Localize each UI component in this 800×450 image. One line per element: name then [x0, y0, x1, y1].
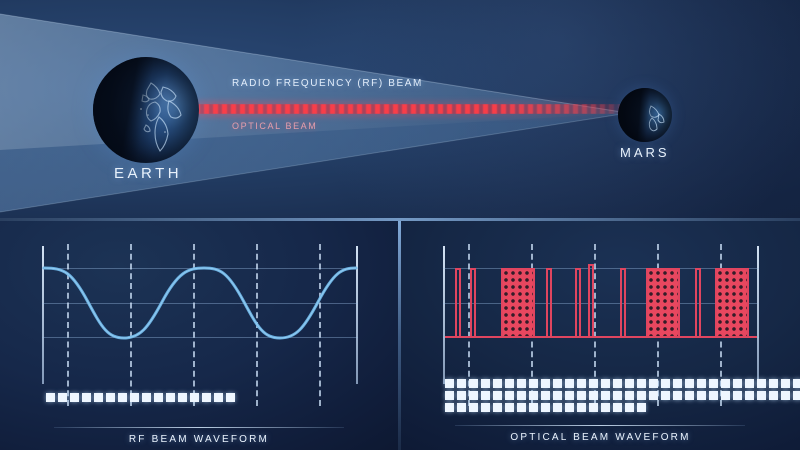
bit-block	[649, 391, 658, 400]
bit-block	[553, 403, 562, 412]
bit-block	[625, 391, 634, 400]
bit-block	[505, 403, 514, 412]
bit-block	[190, 393, 199, 402]
optical-y-axis-right	[757, 246, 759, 384]
optical-plot-area	[443, 246, 759, 358]
bit-block	[661, 391, 670, 400]
optical-baseline	[445, 336, 757, 338]
rf-waveform-panel: RF BEAM WAVEFORM	[0, 221, 398, 450]
bit-block	[481, 391, 490, 400]
bit-block	[517, 403, 526, 412]
bit-block	[505, 379, 514, 388]
bit-block	[553, 379, 562, 388]
bit-block	[601, 379, 610, 388]
earth-terminator	[93, 57, 199, 163]
bit-block	[94, 393, 103, 402]
bit-block	[202, 393, 211, 402]
bit-block	[457, 403, 466, 412]
bit-block	[613, 379, 622, 388]
rf-beam-label: RADIO FREQUENCY (RF) BEAM	[232, 78, 423, 89]
bit-block	[493, 391, 502, 400]
optical-waveform-panel: OPTICAL BEAM WAVEFORM	[401, 221, 800, 450]
optical-caption-rule	[455, 425, 745, 426]
bit-block	[58, 393, 67, 402]
bit-block	[529, 379, 538, 388]
bit-block	[481, 379, 490, 388]
bit-block	[757, 391, 766, 400]
bit-block	[661, 379, 670, 388]
bit-block	[481, 403, 490, 412]
bit-block	[721, 391, 730, 400]
bit-block	[82, 393, 91, 402]
bit-block	[613, 391, 622, 400]
bit-block	[226, 393, 235, 402]
bit-block	[154, 393, 163, 402]
bit-block	[781, 391, 790, 400]
bit-block	[577, 391, 586, 400]
bit-block	[673, 379, 682, 388]
bit-block	[745, 379, 754, 388]
bit-block	[769, 379, 778, 388]
mars-terminator	[618, 88, 672, 142]
bit-block	[505, 391, 514, 400]
earth-label: EARTH	[114, 165, 182, 182]
bit-block	[445, 379, 454, 388]
space-scene: EARTH MARS RADIO FREQUENCY (RF) BEAM OPT…	[0, 0, 800, 218]
rf-plot-area	[42, 246, 358, 358]
optical-pulse	[546, 268, 552, 338]
bit-block	[601, 403, 610, 412]
diagram-canvas: EARTH MARS RADIO FREQUENCY (RF) BEAM OPT…	[0, 0, 800, 450]
bit-block	[769, 391, 778, 400]
bit-block	[553, 391, 562, 400]
bit-block	[565, 379, 574, 388]
bit-block	[781, 379, 790, 388]
bit-block	[541, 391, 550, 400]
bit-block	[106, 393, 115, 402]
bit-block	[589, 379, 598, 388]
optical-beam-label: OPTICAL BEAM	[232, 121, 317, 131]
bit-block	[541, 379, 550, 388]
bit-block	[637, 379, 646, 388]
bit-block	[70, 393, 79, 402]
optical-y-axis-left	[443, 246, 445, 384]
bit-block	[625, 379, 634, 388]
optical-pulse-filled	[715, 268, 749, 338]
optical-pulse	[575, 268, 581, 338]
bit-block	[745, 391, 754, 400]
bit-block	[529, 391, 538, 400]
mars-planet	[618, 88, 672, 142]
bit-block	[601, 391, 610, 400]
bit-block	[118, 393, 127, 402]
bit-block	[445, 403, 454, 412]
bit-block	[46, 393, 55, 402]
bit-block	[565, 403, 574, 412]
rf-sine-wave	[42, 246, 358, 366]
optical-bit-row	[445, 379, 800, 388]
bit-block	[214, 393, 223, 402]
optical-gridline-top	[443, 268, 759, 269]
bit-block	[757, 379, 766, 388]
bit-block	[142, 393, 151, 402]
optical-pulse	[620, 268, 626, 338]
bit-block	[517, 379, 526, 388]
bit-block	[541, 403, 550, 412]
optical-pulse	[470, 268, 476, 338]
bit-block	[529, 403, 538, 412]
bit-block	[493, 379, 502, 388]
optical-pulse	[588, 264, 594, 338]
bit-block	[793, 391, 800, 400]
bit-block	[613, 403, 622, 412]
bit-block	[589, 403, 598, 412]
bit-block	[469, 379, 478, 388]
bit-block	[649, 379, 658, 388]
bit-block	[721, 379, 730, 388]
optical-caption: OPTICAL BEAM WAVEFORM	[401, 432, 800, 443]
bit-block	[517, 391, 526, 400]
optical-beam-line	[150, 104, 628, 114]
optical-pulse-filled	[646, 268, 680, 338]
bit-block	[178, 393, 187, 402]
bit-block	[709, 391, 718, 400]
rf-caption: RF BEAM WAVEFORM	[0, 434, 398, 445]
bit-block	[709, 379, 718, 388]
optical-gridline-mid	[443, 303, 759, 304]
bit-block	[697, 379, 706, 388]
rf-bit-row	[46, 393, 235, 402]
optical-pulse-filled	[501, 268, 535, 338]
bit-block	[589, 391, 598, 400]
optical-bit-row	[445, 403, 646, 412]
bit-block	[130, 393, 139, 402]
optical-pulse	[455, 268, 461, 338]
bit-block	[625, 403, 634, 412]
bit-block	[469, 403, 478, 412]
bit-block	[565, 391, 574, 400]
bit-block	[166, 393, 175, 402]
bit-block	[457, 391, 466, 400]
bit-block	[457, 379, 466, 388]
bit-block	[685, 391, 694, 400]
bit-block	[673, 391, 682, 400]
bit-block	[733, 379, 742, 388]
bit-block	[577, 379, 586, 388]
bit-block	[793, 379, 800, 388]
optical-bit-row	[445, 391, 800, 400]
bit-block	[469, 391, 478, 400]
rf-caption-rule	[54, 427, 344, 428]
bit-block	[493, 403, 502, 412]
bit-block	[637, 391, 646, 400]
earth-planet	[93, 57, 199, 163]
mars-label: MARS	[620, 145, 670, 160]
bit-block	[445, 391, 454, 400]
bit-block	[697, 391, 706, 400]
optical-pulse	[695, 268, 701, 338]
bit-block	[733, 391, 742, 400]
bit-block	[577, 403, 586, 412]
bit-block	[637, 403, 646, 412]
bit-block	[685, 379, 694, 388]
